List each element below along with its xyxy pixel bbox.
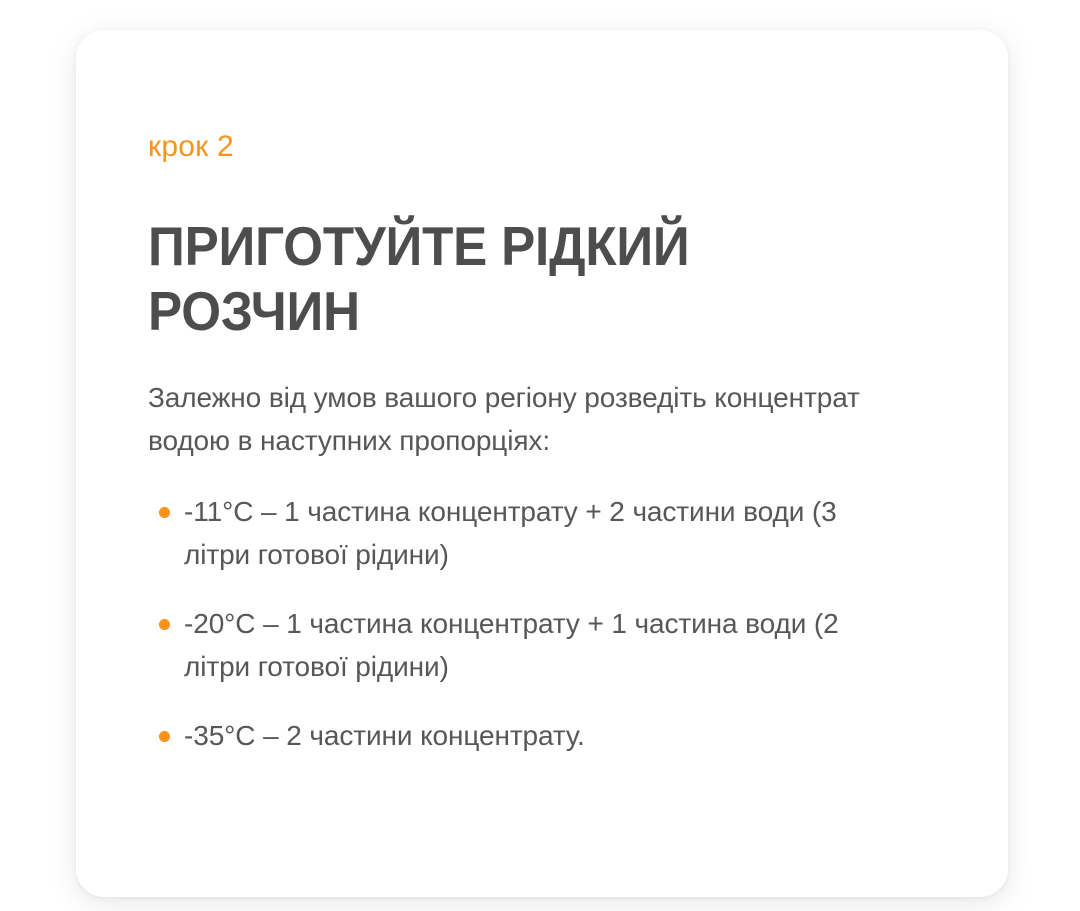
page-title: ПРИГОТУЙТЕ РІДКИЙ РОЗЧИН: [148, 214, 780, 344]
step-card-content: крок 2 ПРИГОТУЙТЕ РІДКИЙ РОЗЧИН Залежно …: [148, 130, 948, 757]
step-intro-text: Залежно від умов вашого регіону розведіт…: [148, 376, 860, 462]
step-label: крок 2: [148, 130, 948, 164]
list-item-label: -20°С – 1 частина концентрату + 1 частин…: [184, 608, 839, 682]
list-item-label: -35°С – 2 частини концентрату.: [184, 720, 585, 751]
bullet-dot-icon: [159, 731, 170, 742]
list-item: -11°С – 1 частина концентрату + 2 частин…: [148, 490, 878, 576]
bullet-dot-icon: [159, 507, 170, 518]
bullet-dot-icon: [159, 619, 170, 630]
page-root: крок 2 ПРИГОТУЙТЕ РІДКИЙ РОЗЧИН Залежно …: [0, 0, 1080, 911]
list-item: -35°С – 2 частини концентрату.: [148, 714, 878, 757]
list-item: -20°С – 1 частина концентрату + 1 частин…: [148, 602, 878, 688]
dilution-ratio-list: -11°С – 1 частина концентрату + 2 частин…: [148, 490, 878, 757]
step-card: крок 2 ПРИГОТУЙТЕ РІДКИЙ РОЗЧИН Залежно …: [76, 30, 1008, 897]
list-item-label: -11°С – 1 частина концентрату + 2 частин…: [184, 496, 837, 570]
